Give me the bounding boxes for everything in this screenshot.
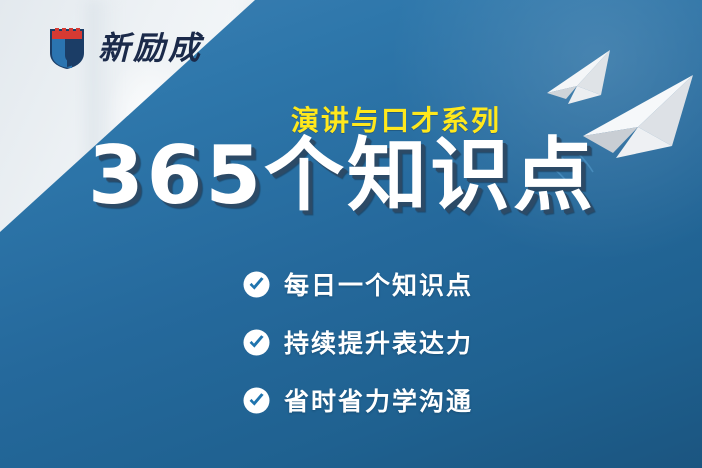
shield-logo-icon <box>48 26 86 70</box>
list-item: 持续提升表达力 <box>243 324 473 360</box>
list-item: 每日一个知识点 <box>243 266 473 302</box>
list-item-label: 每日一个知识点 <box>284 266 473 302</box>
page-title: 365个知识点 <box>88 134 596 219</box>
check-circle-icon <box>243 387 270 414</box>
list-item-label: 持续提升表达力 <box>284 324 473 360</box>
list-item-label: 省时省力学沟通 <box>284 382 473 418</box>
brand-logo: 新励成 <box>48 26 203 70</box>
check-circle-icon <box>243 271 270 298</box>
check-circle-icon <box>243 329 270 356</box>
brand-name: 新励成 <box>98 32 203 64</box>
promo-banner: 新励成 演讲与口才系列 365个知识点 每 <box>0 0 702 468</box>
list-item: 省时省力学沟通 <box>243 382 473 418</box>
feature-list: 每日一个知识点 持续提升表达力 省时省力学沟通 <box>243 266 473 418</box>
